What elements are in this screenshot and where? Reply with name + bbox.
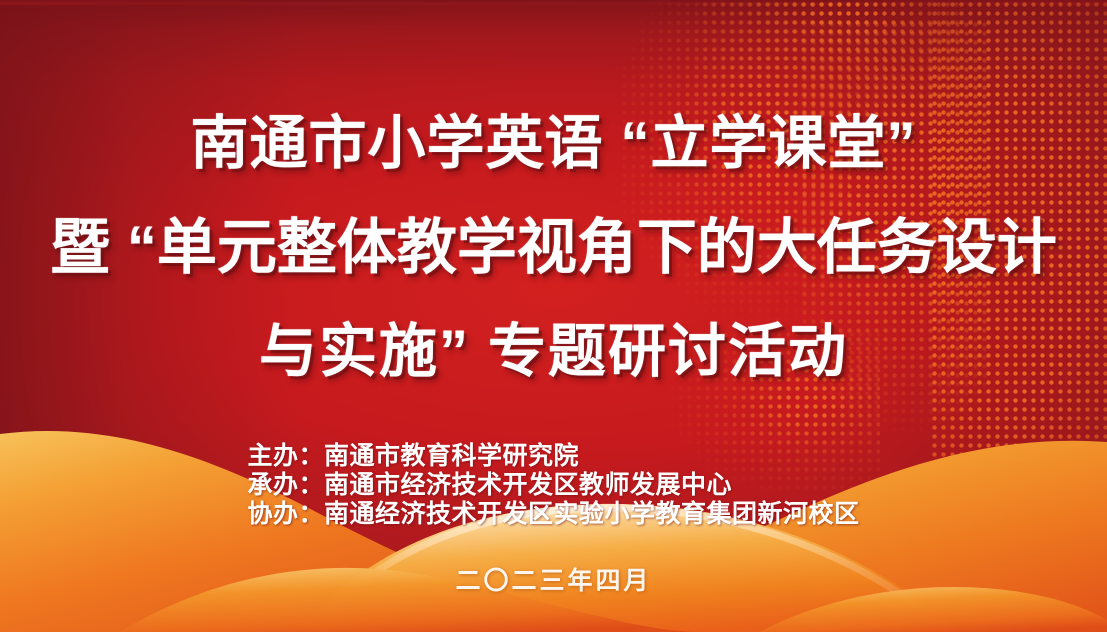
title-line-2: 暨 “单元整体教学视角下的大任务设计 (0, 196, 1107, 300)
title-line-3: 与实施” 专题研讨活动 (0, 300, 1107, 404)
organizer-block: 主办：南通市教育科学研究院 承办：南通市经济技术开发区教师发展中心 协办：南通经… (0, 442, 1107, 529)
organizer-undertaker: 承办：南通市经济技术开发区教师发展中心 (247, 471, 859, 500)
poster-title: 南通市小学英语 “立学课堂” 暨 “单元整体教学视角下的大任务设计 与实施” 专… (0, 92, 1107, 404)
organizer-coorganizer: 协办：南通经济技术开发区实验小学教育集团新河校区 (247, 500, 859, 529)
organizer-list: 主办：南通市教育科学研究院 承办：南通市经济技术开发区教师发展中心 协办：南通经… (247, 442, 859, 529)
organizer-host: 主办：南通市教育科学研究院 (247, 442, 859, 471)
title-line-1: 南通市小学英语 “立学课堂” (0, 92, 1107, 196)
poster-canvas: 南通市小学英语 “立学课堂” 暨 “单元整体教学视角下的大任务设计 与实施” 专… (0, 0, 1107, 632)
event-date: 二〇二三年四月 (0, 561, 1107, 597)
